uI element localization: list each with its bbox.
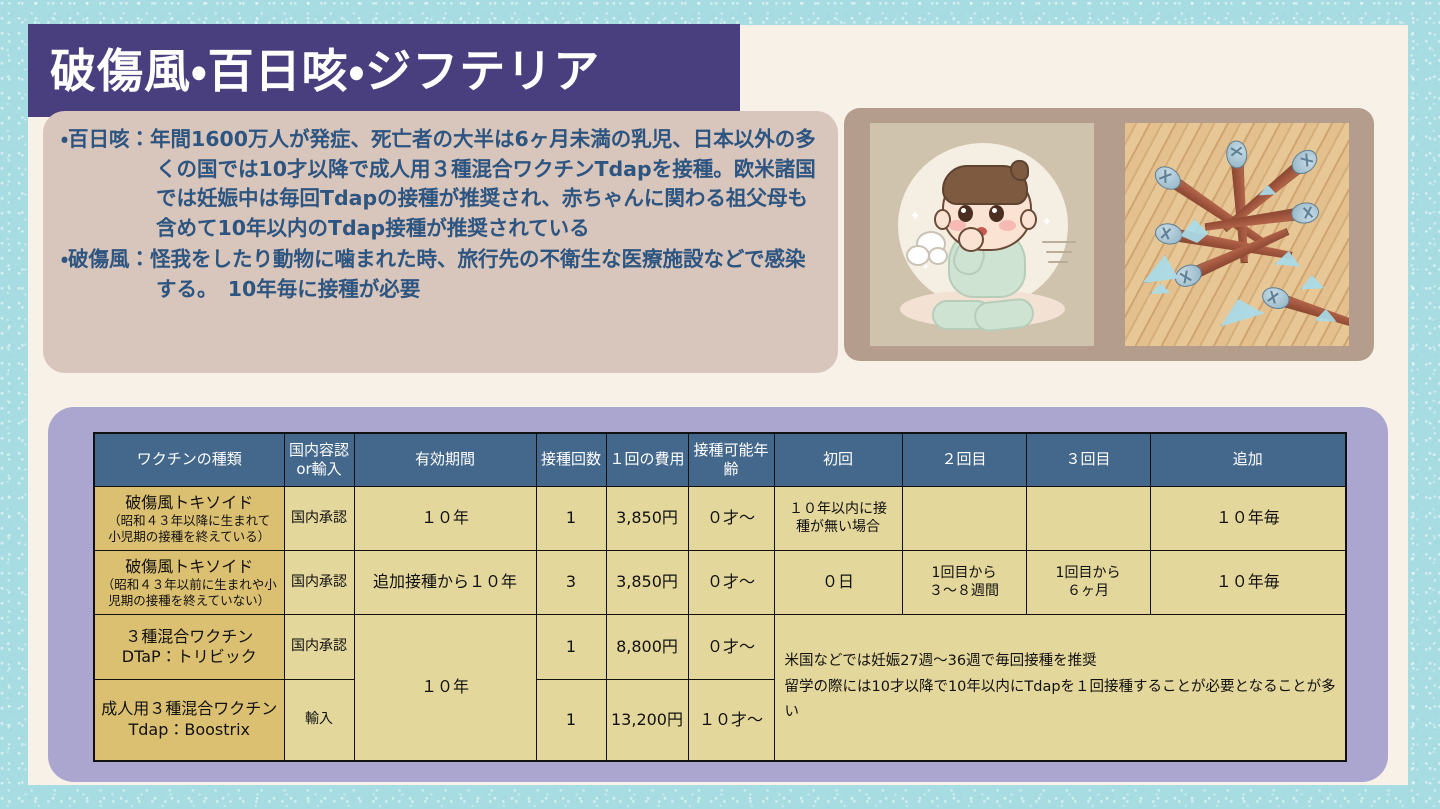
cell-vaccine-type: 破傷風トキソイド （昭和４３年以降に生まれて 小児期の接種を終えている） — [94, 487, 284, 551]
vaccine-name: ３種混合ワクチン — [125, 627, 253, 646]
vaccine-note-line1: （昭和４３年以前に生まれや小 — [98, 577, 281, 592]
motion-line — [1042, 241, 1076, 243]
second-dose-line2: ３～８週間 — [906, 583, 1023, 601]
col-header-approval-line1: 国内容認 — [288, 441, 351, 460]
cell-doses: 1 — [536, 487, 606, 551]
cell-second-dose: 1回目から ３～８週間 — [902, 551, 1026, 615]
col-header-approval: 国内容認 or輸入 — [284, 433, 354, 487]
third-dose-line1: 1回目から — [1030, 565, 1147, 583]
baby-cheek-right — [999, 220, 1016, 231]
second-dose-line1: 1回目から — [906, 565, 1023, 583]
cell-approval: 国内承認 — [284, 487, 354, 551]
cell-duration-merged: １０年 — [354, 615, 536, 761]
cell-vaccine-type: 破傷風トキソイド （昭和４３年以前に生まれや小 児期の接種を終えていない） — [94, 551, 284, 615]
vaccine-name: 破傷風トキソイド — [125, 493, 253, 512]
cell-third-dose — [1026, 487, 1150, 551]
illustration-card: ✦ ✦ ✦ — [844, 108, 1374, 361]
cell-doses: 3 — [536, 551, 606, 615]
cell-duration: 追加接種から１０年 — [354, 551, 536, 615]
cell-age: ０才～ — [688, 615, 774, 680]
baby-eye-right — [989, 205, 1004, 222]
vaccine-schedule-table: ワクチンの種類 国内容認 or輸入 有効期間 接種回数 １回の費用 接種可能年齢… — [93, 432, 1347, 762]
cell-approval: 国内承認 — [284, 551, 354, 615]
baby-fist — [958, 227, 984, 252]
baby-leg-right — [972, 297, 1035, 333]
baby-hair — [942, 165, 1028, 205]
coughing-baby-illustration: ✦ ✦ ✦ — [870, 123, 1094, 346]
table-row: ３種混合ワクチン DTaP：トリビック 国内承認 １０年 1 8,800円 ０才… — [94, 615, 1346, 680]
motion-line — [1048, 261, 1068, 263]
cell-second-dose — [902, 487, 1026, 551]
table-row: 破傷風トキソイド （昭和４３年以前に生まれや小 児期の接種を終えていない） 国内… — [94, 551, 1346, 615]
cell-third-dose: 1回目から ６ヶ月 — [1026, 551, 1150, 615]
vaccine-name: 成人用３種混合ワクチン — [101, 699, 277, 718]
table-frame: ワクチンの種類 国内容認 or輸入 有効期間 接種回数 １回の費用 接種可能年齢… — [48, 407, 1388, 782]
remarks-line1: 米国などでは妊娠27週～36週で毎回接種を推奨 — [785, 649, 1343, 674]
cell-age: ０才～ — [688, 487, 774, 551]
cell-first-dose: ０日 — [774, 551, 902, 615]
cell-cost: 8,800円 — [606, 615, 688, 680]
col-header-approval-line2: or輸入 — [288, 460, 351, 479]
cell-age: １０才～ — [688, 680, 774, 761]
cell-doses: 1 — [536, 680, 606, 761]
table-header-row: ワクチンの種類 国内容認 or輸入 有効期間 接種回数 １回の費用 接種可能年齢… — [94, 433, 1346, 487]
col-header-doses: 接種回数 — [536, 433, 606, 487]
motion-line — [1046, 251, 1072, 253]
remarks-line2: 留学の際には10才以降で10年以内にTdapを１回接種することが必要となることが… — [785, 675, 1343, 726]
cell-first-dose: １０年以内に接 種が無い場合 — [774, 487, 902, 551]
slide-canvas: 破傷風・百日咳・ジフテリア ・百日咳：年間1600万人が発症、死亡者の大半は6ヶ… — [28, 25, 1408, 785]
cell-vaccine-type: 成人用３種混合ワクチン Tdap：Boostrix — [94, 680, 284, 761]
col-header-second-dose: ２回目 — [902, 433, 1026, 487]
cell-booster: １０年毎 — [1150, 487, 1346, 551]
bullet-tetanus: ・破傷風：怪我をしたり動物に噛まれた時、旅行先の不衛生な医療施設などで感染する。… — [61, 245, 820, 304]
col-header-first-dose: 初回 — [774, 433, 902, 487]
cell-cost: 13,200円 — [606, 680, 688, 761]
vaccine-note-line2: 小児期の接種を終えている） — [98, 529, 281, 544]
cell-vaccine-type: ３種混合ワクチン DTaP：トリビック — [94, 615, 284, 680]
sparkle-icon: ✦ — [1042, 215, 1053, 228]
cell-duration: １０年 — [354, 487, 536, 551]
vaccine-name: 破傷風トキソイド — [125, 557, 253, 576]
rusty-nails-illustration — [1125, 123, 1349, 346]
sparkle-icon: ✦ — [922, 263, 930, 273]
baby-ear-right — [1020, 209, 1037, 230]
cell-approval: 国内承認 — [284, 615, 354, 680]
slide-title-bar: 破傷風・百日咳・ジフテリア — [28, 24, 740, 117]
cell-doses: 1 — [536, 615, 606, 680]
cough-puff-icon — [928, 247, 948, 265]
table-row: 破傷風トキソイド （昭和４３年以降に生まれて 小児期の接種を終えている） 国内承… — [94, 487, 1346, 551]
col-header-booster: 追加 — [1150, 433, 1346, 487]
vaccine-note-line2: 児期の接種を終えていない） — [98, 593, 281, 608]
cell-cost: 3,850円 — [606, 487, 688, 551]
cell-age: ０才～ — [688, 551, 774, 615]
col-header-duration: 有効期間 — [354, 433, 536, 487]
vaccine-product: DTaP：トリビック — [122, 647, 257, 666]
col-header-age: 接種可能年齢 — [688, 433, 774, 487]
cell-booster: １０年毎 — [1150, 551, 1346, 615]
description-panel: ・百日咳：年間1600万人が発症、死亡者の大半は6ヶ月未満の乳児、日本以外の多く… — [43, 111, 838, 373]
vaccine-note-line1: （昭和４３年以降に生まれて — [98, 513, 281, 528]
cell-remarks: 米国などでは妊娠27週～36週で毎回接種を推奨 留学の際には10才以降で10年以… — [774, 615, 1346, 761]
cell-approval: 輸入 — [284, 680, 354, 761]
first-dose-line1: １０年以内に接 — [778, 501, 899, 519]
col-header-third-dose: ３回目 — [1026, 433, 1150, 487]
col-header-cost: １回の費用 — [606, 433, 688, 487]
vaccine-product: Tdap：Boostrix — [128, 720, 250, 739]
cell-cost: 3,850円 — [606, 551, 688, 615]
baby-ear-left — [934, 209, 951, 230]
col-header-vaccine-type: ワクチンの種類 — [94, 433, 284, 487]
sparkle-icon: ✦ — [910, 209, 921, 222]
third-dose-line2: ６ヶ月 — [1030, 583, 1147, 601]
bullet-pertussis: ・百日咳：年間1600万人が発症、死亡者の大半は6ヶ月未満の乳児、日本以外の多く… — [61, 125, 820, 243]
page-title: 破傷風・百日咳・ジフテリア — [28, 48, 600, 94]
first-dose-line2: 種が無い場合 — [778, 519, 899, 537]
